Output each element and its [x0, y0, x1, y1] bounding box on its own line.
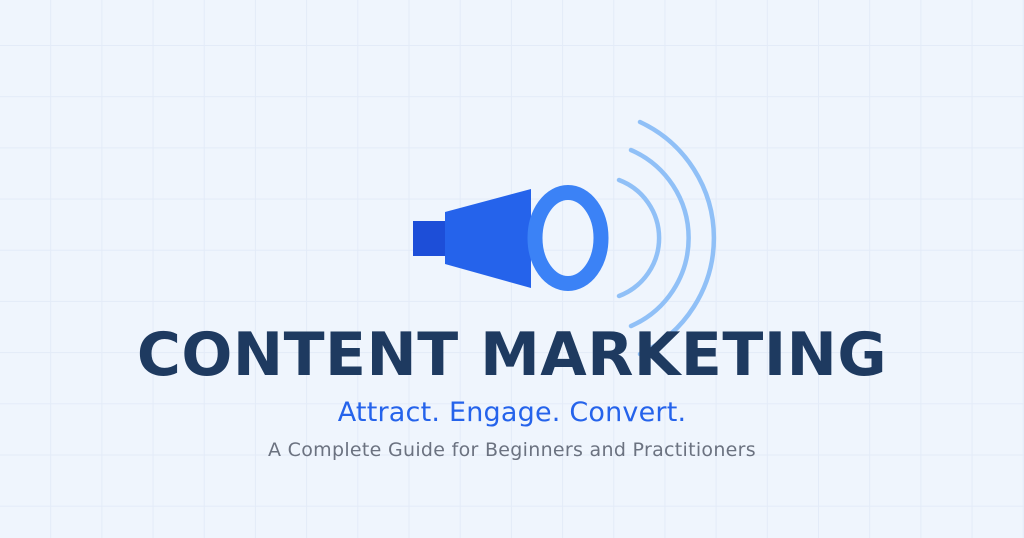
cover-canvas: CONTENT MARKETING Attract. Engage. Conve… [0, 0, 1024, 538]
tagline: Attract. Engage. Convert. [0, 397, 1024, 428]
subtitle: A Complete Guide for Beginners and Pract… [0, 439, 1024, 462]
sound-wave-arc-inner [619, 180, 659, 296]
sound-wave-arc-middle [631, 150, 689, 326]
megaphone-cone [445, 189, 531, 288]
page-title: CONTENT MARKETING [0, 324, 1024, 388]
megaphone-handle [413, 221, 446, 256]
title-block: CONTENT MARKETING Attract. Engage. Conve… [0, 324, 1024, 461]
megaphone-mouth-ring [535, 193, 601, 284]
